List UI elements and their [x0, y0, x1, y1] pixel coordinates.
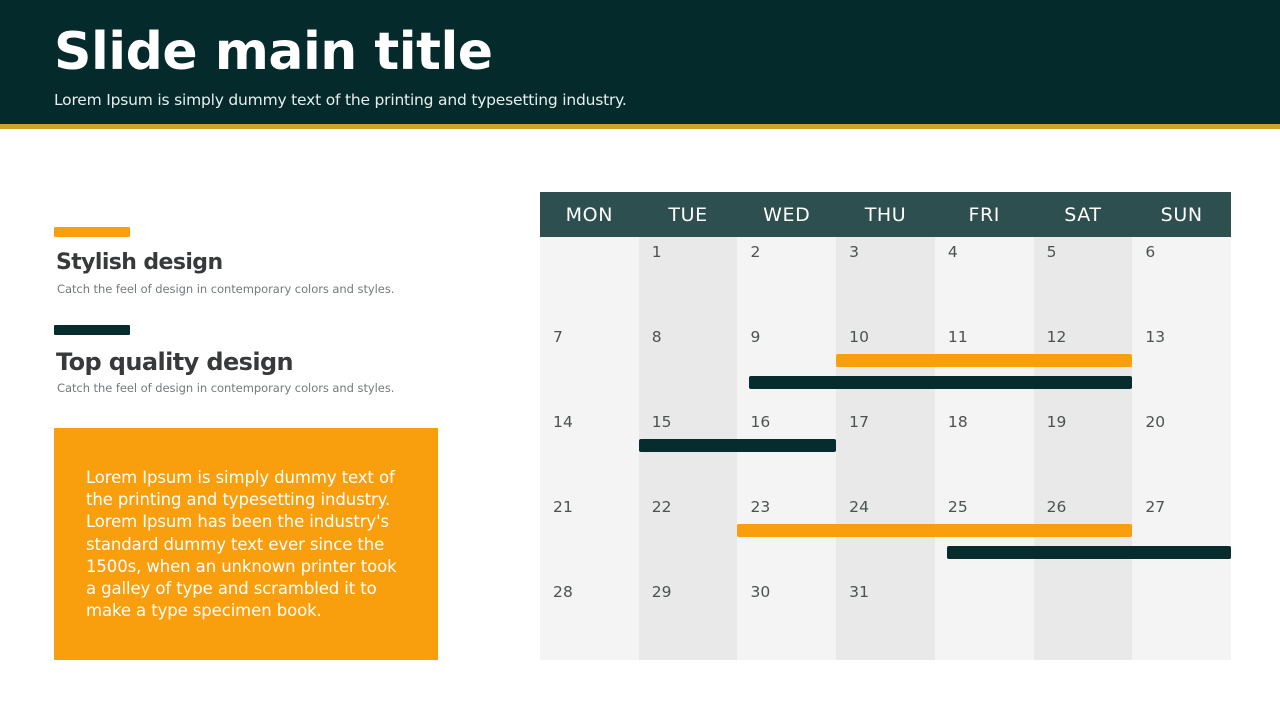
- calendar-day-cell-empty: [540, 237, 639, 322]
- calendar-day-number: 23: [750, 498, 770, 516]
- calendar-day-number: 20: [1145, 413, 1165, 431]
- calendar-day-cell-empty: [1132, 577, 1231, 662]
- calendar-day-header-fri: FRI: [935, 192, 1034, 237]
- calendar-day-cell[interactable]: 1: [639, 237, 738, 322]
- calendar-day-cell[interactable]: 8: [639, 322, 738, 407]
- header-accent-rule: [0, 124, 1280, 129]
- calendar-day-cell[interactable]: 27: [1132, 492, 1231, 577]
- calendar-day-cell[interactable]: 31: [836, 577, 935, 662]
- feature-title-stylish-design: Stylish design: [56, 249, 223, 277]
- calendar-day-cell[interactable]: 3: [836, 237, 935, 322]
- calendar-day-cell[interactable]: 4: [935, 237, 1034, 322]
- calendar-day-header-row: MONTUEWEDTHUFRISATSUN: [540, 192, 1231, 237]
- calendar-day-number: 16: [750, 413, 770, 431]
- calendar-day-number: 28: [553, 583, 573, 601]
- calendar-day-number: 11: [948, 328, 968, 346]
- calendar-day-cell[interactable]: 21: [540, 492, 639, 577]
- calendar: MONTUEWEDTHUFRISATSUN 123456789101112131…: [540, 192, 1231, 660]
- calendar-day-number: 12: [1047, 328, 1067, 346]
- calendar-day-number: 29: [652, 583, 672, 601]
- calendar-day-number: 7: [553, 328, 563, 346]
- calendar-day-header-mon: MON: [540, 192, 639, 237]
- calendar-event-bar-orange[interactable]: [737, 524, 1132, 537]
- calendar-day-cell[interactable]: 7: [540, 322, 639, 407]
- callout-text: Lorem Ipsum is simply dummy text of the …: [86, 467, 408, 622]
- calendar-day-cell[interactable]: 2: [737, 237, 836, 322]
- calendar-day-number: 19: [1047, 413, 1067, 431]
- calendar-day-cell[interactable]: 13: [1132, 322, 1231, 407]
- feature-description-stylish-design: Catch the feel of design in contemporary…: [57, 282, 394, 296]
- calendar-day-number: 21: [553, 498, 573, 516]
- calendar-day-cell[interactable]: 5: [1034, 237, 1133, 322]
- calendar-day-header-tue: TUE: [639, 192, 738, 237]
- calendar-day-number: 8: [652, 328, 662, 346]
- calendar-day-cell[interactable]: 19: [1034, 407, 1133, 492]
- feature-title-top-quality-design: Top quality design: [56, 347, 293, 377]
- feature-description-top-quality-design: Catch the feel of design in contemporary…: [57, 381, 394, 395]
- calendar-day-header-thu: THU: [836, 192, 935, 237]
- calendar-week-days: 123456: [540, 237, 1231, 322]
- calendar-day-cell[interactable]: 9: [737, 322, 836, 407]
- calendar-day-cell[interactable]: 6: [1132, 237, 1231, 322]
- calendar-day-number: 26: [1047, 498, 1067, 516]
- calendar-day-number: 24: [849, 498, 869, 516]
- calendar-week-row: 28293031: [540, 577, 1231, 662]
- calendar-day-number: 31: [849, 583, 869, 601]
- calendar-day-number: 22: [652, 498, 672, 516]
- calendar-day-number: 27: [1145, 498, 1165, 516]
- calendar-event-bar-dark[interactable]: [749, 376, 1132, 389]
- calendar-day-number: 1: [652, 243, 662, 261]
- calendar-day-number: 14: [553, 413, 573, 431]
- calendar-day-cell[interactable]: 17: [836, 407, 935, 492]
- calendar-day-cell[interactable]: 28: [540, 577, 639, 662]
- calendar-week-days: 28293031: [540, 577, 1231, 662]
- calendar-day-header-sat: SAT: [1034, 192, 1133, 237]
- calendar-day-cell[interactable]: 22: [639, 492, 738, 577]
- calendar-day-number: 9: [750, 328, 760, 346]
- calendar-day-number: 25: [948, 498, 968, 516]
- page-title: Slide main title: [54, 20, 493, 84]
- calendar-week-row: 123456: [540, 237, 1231, 322]
- calendar-day-cell-empty: [1034, 577, 1133, 662]
- calendar-day-header-wed: WED: [737, 192, 836, 237]
- feature-swatch-top-quality-design: [54, 325, 130, 335]
- calendar-day-number: 10: [849, 328, 869, 346]
- calendar-day-header-sun: SUN: [1132, 192, 1231, 237]
- calendar-day-number: 4: [948, 243, 958, 261]
- calendar-event-bar-dark[interactable]: [947, 546, 1231, 559]
- calendar-day-number: 13: [1145, 328, 1165, 346]
- calendar-day-number: 17: [849, 413, 869, 431]
- calendar-day-number: 2: [750, 243, 760, 261]
- calendar-day-number: 5: [1047, 243, 1057, 261]
- calendar-day-cell-empty: [935, 577, 1034, 662]
- calendar-day-cell[interactable]: 18: [935, 407, 1034, 492]
- calendar-grid: 1234567891011121314151617181920212223242…: [540, 237, 1231, 660]
- calendar-event-bar-orange[interactable]: [836, 354, 1132, 367]
- calendar-day-number: 30: [750, 583, 770, 601]
- calendar-event-bar-dark[interactable]: [639, 439, 836, 452]
- feature-swatch-stylish-design: [54, 227, 130, 237]
- page-subtitle: Lorem Ipsum is simply dummy text of the …: [54, 89, 627, 111]
- calendar-day-cell[interactable]: 14: [540, 407, 639, 492]
- calendar-day-cell[interactable]: 30: [737, 577, 836, 662]
- callout-panel: Lorem Ipsum is simply dummy text of the …: [54, 428, 438, 660]
- calendar-day-number: 15: [652, 413, 672, 431]
- calendar-week-rows: 1234567891011121314151617181920212223242…: [540, 237, 1231, 660]
- calendar-day-cell[interactable]: 20: [1132, 407, 1231, 492]
- calendar-day-number: 3: [849, 243, 859, 261]
- calendar-day-number: 18: [948, 413, 968, 431]
- calendar-day-cell[interactable]: 29: [639, 577, 738, 662]
- calendar-day-number: 6: [1145, 243, 1155, 261]
